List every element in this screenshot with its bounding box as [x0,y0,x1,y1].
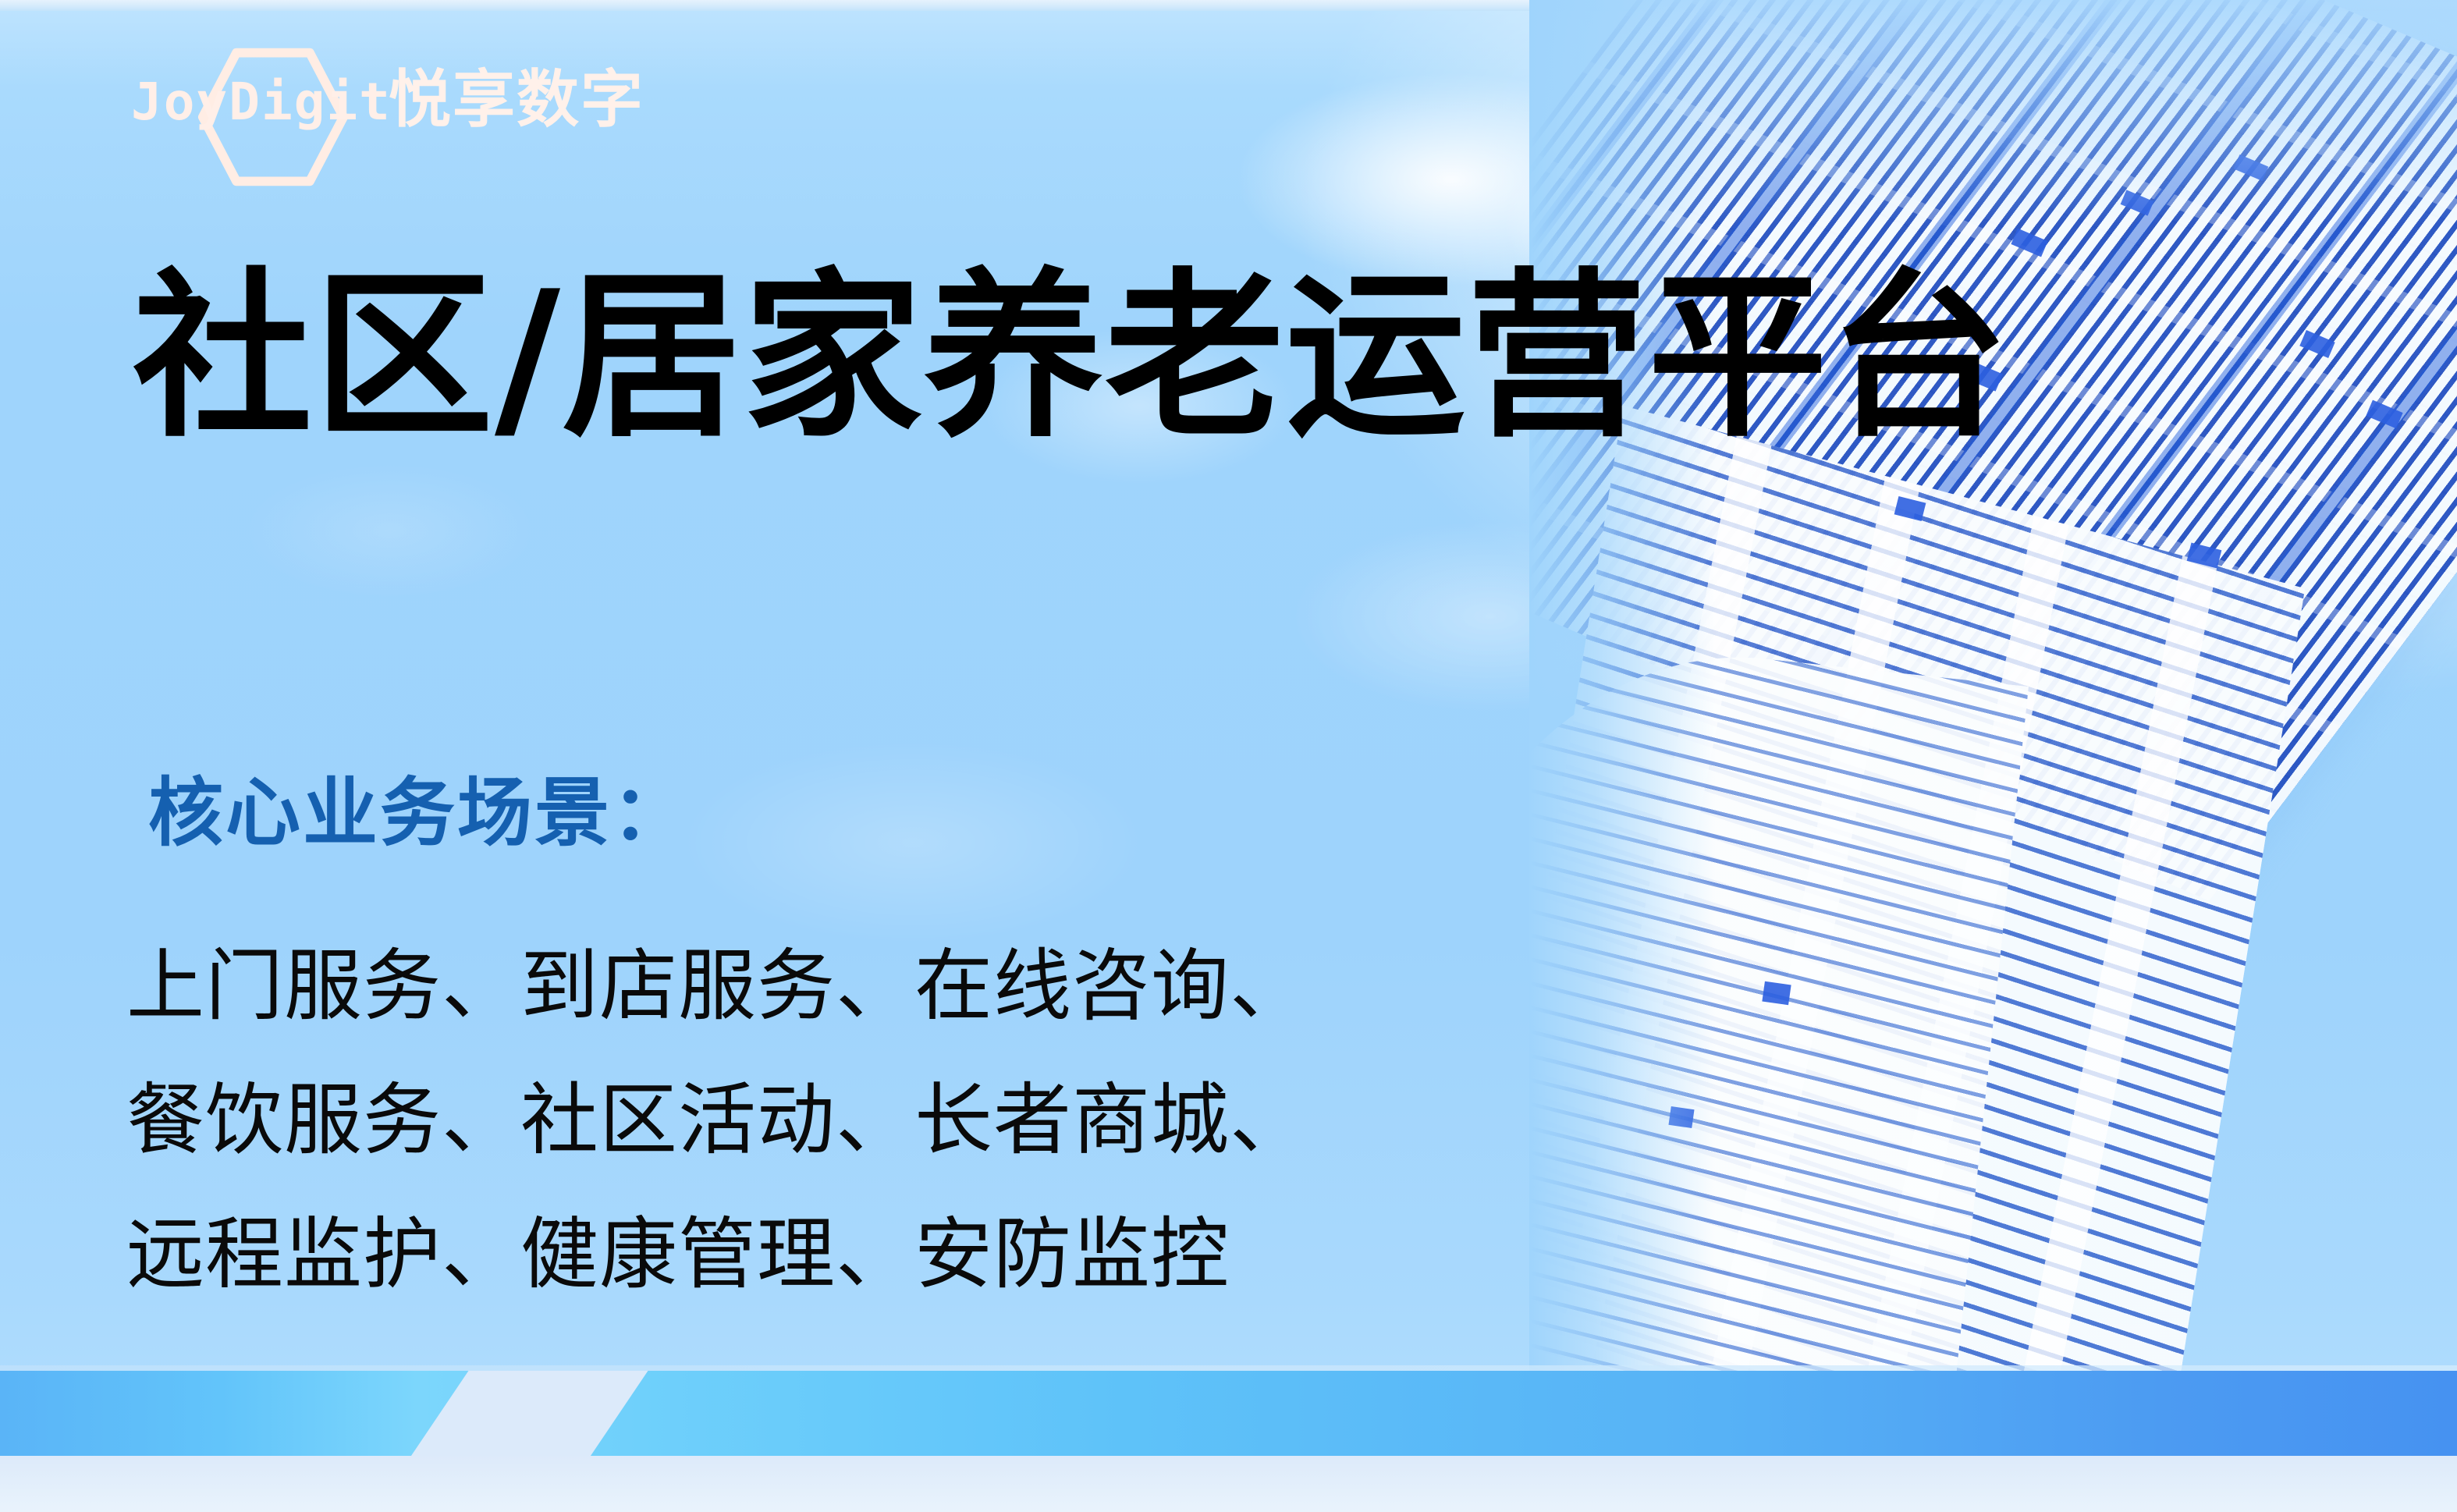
page-title: 社区/居家养老运营平台 [133,257,2010,459]
scenario-line: 上门服务、到店服务、在线咨询、 [126,919,1308,1053]
section-heading: 核心业务场景： [148,772,689,855]
footer-strip [0,1456,2457,1512]
logo-wordmark-chinese: 悦享数字 [389,69,644,131]
slide-root: JoyDigit 悦享数字 社区/居家养老运营平台 核心业务场景： 上门服务、到… [0,0,2457,1512]
brand-logo[interactable]: JoyDigit 悦享数字 [131,67,677,161]
building-photo [1529,0,2457,1404]
scenario-line: 远程监护、健康管理、安防监控 [126,1187,1308,1322]
band-gradient [0,1371,2457,1458]
bottom-accent-band [0,1371,2457,1458]
scenario-line: 餐饮服务、社区活动、长者商城、 [126,1053,1308,1187]
building-edge-fade [1529,0,2457,1404]
scenario-list: 上门服务、到店服务、在线咨询、 餐饮服务、社区活动、长者商城、 远程监护、健康管… [126,919,1308,1322]
logo-wordmark-latin: JoyDigit [131,76,392,128]
band-top-edge [0,1365,2457,1371]
